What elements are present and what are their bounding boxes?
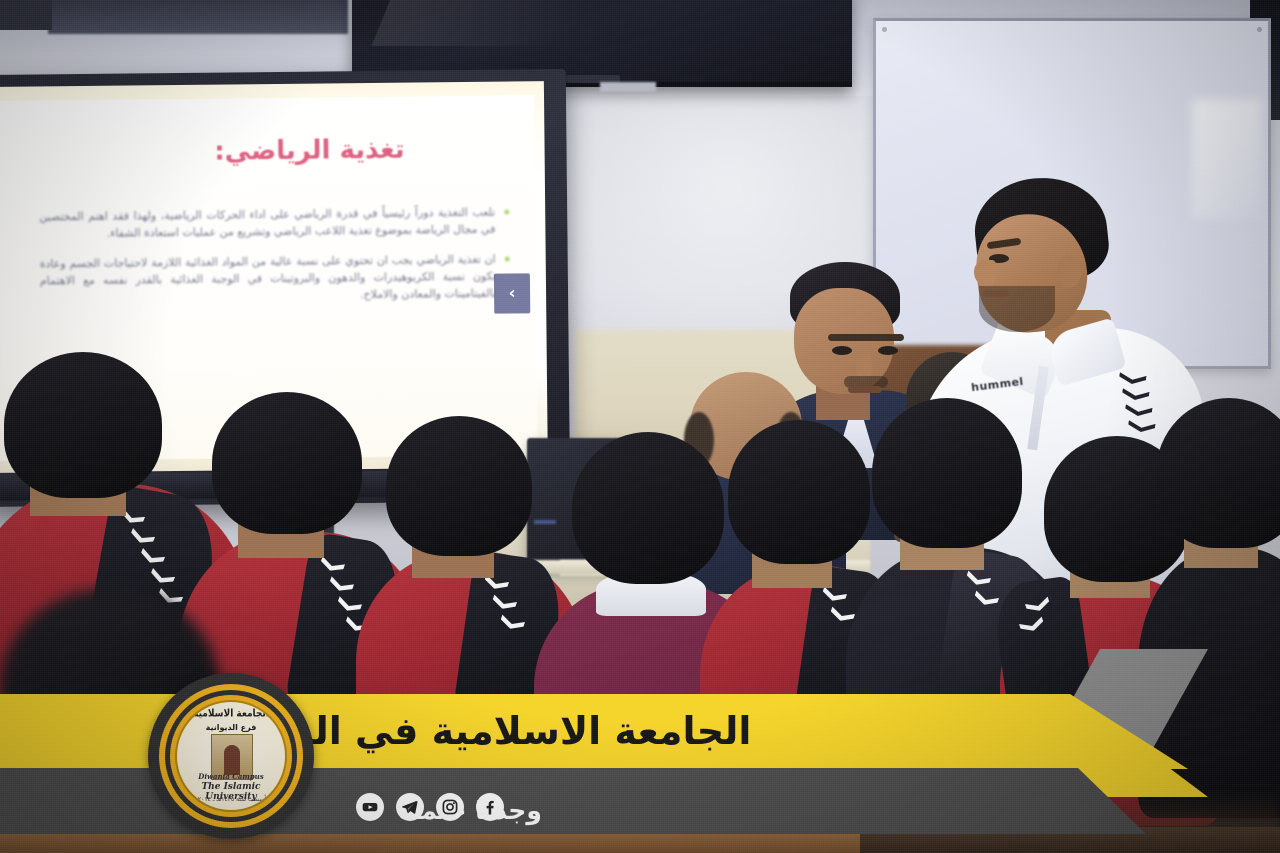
slide-title: تغذية الرياضي: (214, 135, 405, 167)
coach-nose (974, 260, 996, 286)
slide-bullet: ان تغذية الرياضي يجب ان تحتوي على نسبة ع… (40, 251, 511, 307)
official-brows (828, 334, 904, 341)
coach-ear (1057, 256, 1081, 288)
wooden-desk-shadow (860, 827, 1280, 853)
student-hair (1156, 398, 1280, 548)
student-hair (212, 392, 362, 534)
student-hair (386, 416, 532, 556)
official-eye-right (878, 346, 898, 355)
slide-body: تلعب التغذية دوراً رئيسياً في قدرة الريا… (39, 204, 510, 320)
slide-prev-button[interactable]: ‹ (494, 273, 530, 313)
photo-canvas: تغذية الرياضي: تلعب التغذية دوراً رئيسيا… (0, 0, 1280, 853)
student-back-view (1138, 398, 1280, 818)
tv-screen-glare (371, 0, 722, 46)
ceiling-dark-strip (48, 0, 348, 34)
whiteboard-screw (882, 27, 887, 32)
student-hair (4, 352, 162, 498)
left-dark-edge (0, 0, 52, 30)
official-eye-left (832, 346, 852, 355)
foreground-hair (0, 588, 220, 788)
tv-wall-mount (600, 82, 656, 92)
coach-mouth (983, 290, 1009, 297)
whiteboard-screw (1257, 27, 1262, 32)
official-mouth (848, 386, 882, 393)
student-jersey (1138, 548, 1280, 818)
slide-bullet: تلعب التغذية دوراً رئيسياً في قدرة الريا… (39, 204, 509, 243)
